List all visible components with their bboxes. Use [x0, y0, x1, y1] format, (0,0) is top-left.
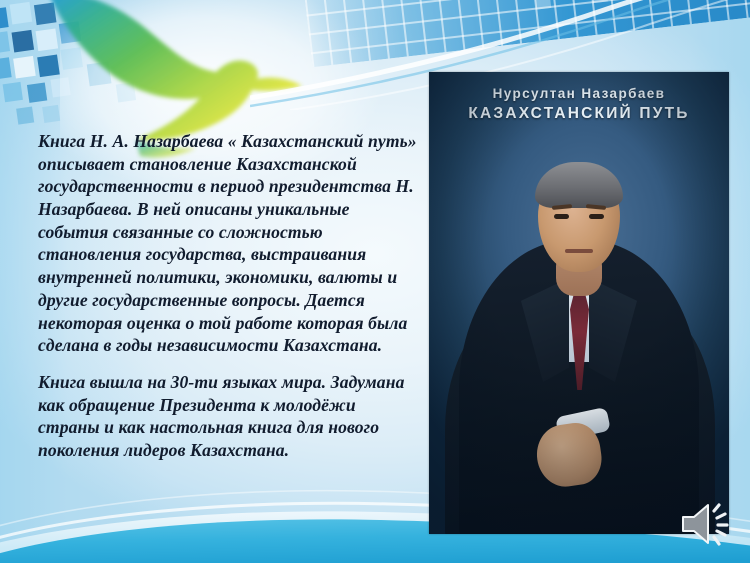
paragraph-1: Книга Н. А. Назарбаева « Казахстанский п… — [38, 130, 418, 357]
presentation-slide: Книга Н. А. Назарбаева « Казахстанский п… — [0, 0, 750, 563]
photo-vignette — [429, 72, 729, 534]
book-cover-photo: Нурсултан Назарбаев КАЗАХСТАНСКИЙ ПУТЬ — [429, 72, 729, 534]
slide-text-column: Книга Н. А. Назарбаева « Казахстанский п… — [38, 130, 418, 470]
mosaic-squares-left — [0, 0, 198, 140]
mosaic-band-top-right — [300, 0, 750, 67]
speaker-icon[interactable] — [678, 497, 736, 549]
paragraph-2: Книга вышла на 30-ти языках мира. Задума… — [38, 371, 418, 462]
